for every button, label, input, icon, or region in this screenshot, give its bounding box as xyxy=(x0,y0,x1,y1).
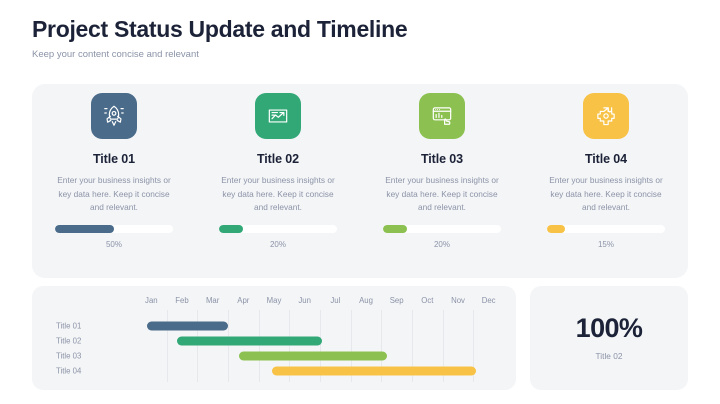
gantt-month-label: Feb xyxy=(175,296,188,305)
document-chart-icon xyxy=(255,93,301,139)
card-description: Enter your business insights or key data… xyxy=(55,174,173,215)
gantt-month-label: Jun xyxy=(298,296,311,305)
card-title-label: Title 01 xyxy=(93,152,135,166)
progress-fill xyxy=(547,225,565,233)
progress-percent-label: 20% xyxy=(270,240,286,249)
kpi-caption: Title 02 xyxy=(596,351,623,361)
card-title-03[interactable]: Title 03 Enter your business insights or… xyxy=(360,84,524,249)
gantt-row-label: Title 01 xyxy=(56,321,81,330)
gantt-grid: Title 01Title 02Title 03Title 04 JanFebM… xyxy=(44,294,504,382)
card-title-label: Title 04 xyxy=(585,152,627,166)
cards-panel: Title 01 Enter your business insights or… xyxy=(32,84,688,278)
kpi-value: 100% xyxy=(576,315,643,342)
kpi-panel: 100% Title 02 xyxy=(530,286,688,390)
progress-fill xyxy=(55,225,114,233)
card-description: Enter your business insights or key data… xyxy=(383,174,501,215)
gantt-month-label: Aug xyxy=(359,296,373,305)
gantt-month-label: Nov xyxy=(451,296,465,305)
card-title-label: Title 02 xyxy=(257,152,299,166)
dashboard-window-icon xyxy=(419,93,465,139)
page-title: Project Status Update and Timeline xyxy=(32,16,692,42)
gantt-row-label: Title 04 xyxy=(56,366,81,375)
gantt-plot-area: JanFebMarAprMayJunJulAugSepOctNovDec xyxy=(136,294,504,382)
gantt-month-label: Jan xyxy=(145,296,158,305)
gantt-month-label: May xyxy=(267,296,282,305)
gantt-bar[interactable] xyxy=(272,366,476,375)
card-title-01[interactable]: Title 01 Enter your business insights or… xyxy=(32,84,196,249)
page-header: Project Status Update and Timeline Keep … xyxy=(32,16,692,61)
progress-bar-title-02 xyxy=(219,225,337,233)
gantt-month-label: Apr xyxy=(237,296,249,305)
card-description: Enter your business insights or key data… xyxy=(219,174,337,215)
gantt-gridline xyxy=(228,310,229,382)
card-description: Enter your business insights or key data… xyxy=(547,174,665,215)
gantt-month-label: Sep xyxy=(390,296,404,305)
gantt-row-label: Title 03 xyxy=(56,351,81,360)
progress-bar-title-01 xyxy=(55,225,173,233)
gantt-month-label: Dec xyxy=(482,296,496,305)
progress-percent-label: 15% xyxy=(598,240,614,249)
gantt-bar[interactable] xyxy=(147,321,228,330)
gantt-row-labels: Title 01Title 02Title 03Title 04 xyxy=(44,294,136,382)
rocket-icon xyxy=(91,93,137,139)
progress-percent-label: 50% xyxy=(106,240,122,249)
gantt-month-label: Jul xyxy=(330,296,340,305)
gantt-row-label: Title 02 xyxy=(56,336,81,345)
progress-fill xyxy=(383,225,407,233)
page-subtitle: Keep your content concise and relevant xyxy=(32,49,692,60)
gantt-bar[interactable] xyxy=(239,351,388,360)
gantt-gridline xyxy=(259,310,260,382)
puzzle-piece-icon xyxy=(583,93,629,139)
progress-percent-label: 20% xyxy=(434,240,450,249)
card-title-04[interactable]: Title 04 Enter your business insights or… xyxy=(524,84,688,249)
progress-fill xyxy=(219,225,243,233)
gantt-chart-panel: Title 01Title 02Title 03Title 04 JanFebM… xyxy=(32,286,516,390)
gantt-month-label: Mar xyxy=(206,296,219,305)
gantt-month-label: Oct xyxy=(421,296,433,305)
progress-bar-title-03 xyxy=(383,225,501,233)
progress-bar-title-04 xyxy=(547,225,665,233)
card-title-label: Title 03 xyxy=(421,152,463,166)
card-title-02[interactable]: Title 02 Enter your business insights or… xyxy=(196,84,360,249)
gantt-bar[interactable] xyxy=(177,336,321,345)
